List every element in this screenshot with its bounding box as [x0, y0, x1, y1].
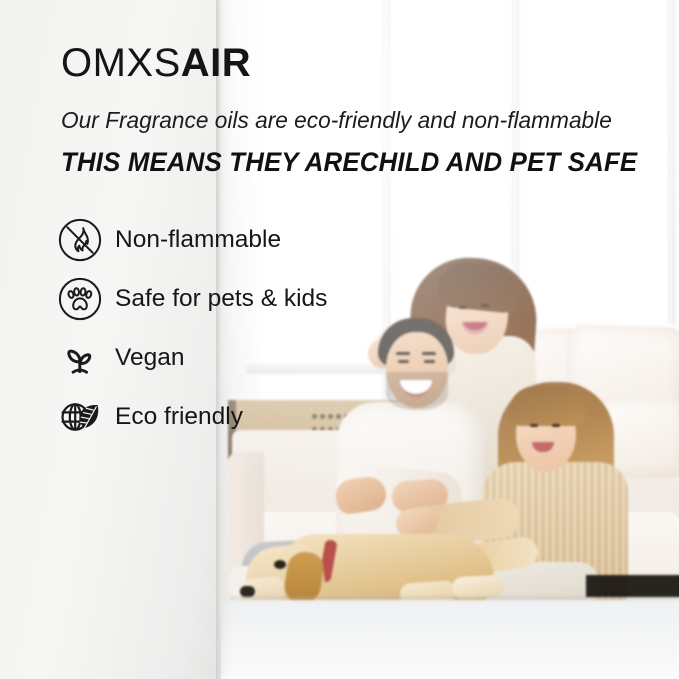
feature-label: Eco friendly [115, 403, 243, 431]
banner-content: OMXSAIR Our Fragrance oils are eco-frien… [0, 0, 679, 679]
feature-item-non-flammable: Non-flammable [54, 210, 384, 269]
brand-logo: OMXSAIR [61, 41, 251, 85]
feature-item-safe-for-pets-and-kids: Safe for pets & kids [54, 269, 384, 328]
feature-item-vegan: Vegan [54, 328, 384, 387]
product-feature-banner: OMXSAIR Our Fragrance oils are eco-frien… [0, 0, 679, 679]
headline: THIS MEANS THEY ARECHILD AND PET SAFE [61, 145, 637, 179]
sprout-icon [54, 332, 106, 384]
feature-label: Safe for pets & kids [115, 285, 327, 313]
globe-leaf-icon [54, 391, 106, 443]
brand-name-bold: AIR [181, 41, 251, 85]
tagline: Our Fragrance oils are eco-friendly and … [61, 105, 612, 135]
feature-item-eco-friendly: Eco friendly [54, 387, 384, 446]
feature-list: Non-flammable Safe for pets & kids [54, 210, 384, 446]
brand-name-light: OMXS [61, 41, 181, 85]
feature-label: Vegan [115, 344, 185, 372]
no-flame-icon [54, 214, 106, 266]
feature-label: Non-flammable [115, 226, 281, 254]
paw-print-icon [54, 273, 106, 325]
